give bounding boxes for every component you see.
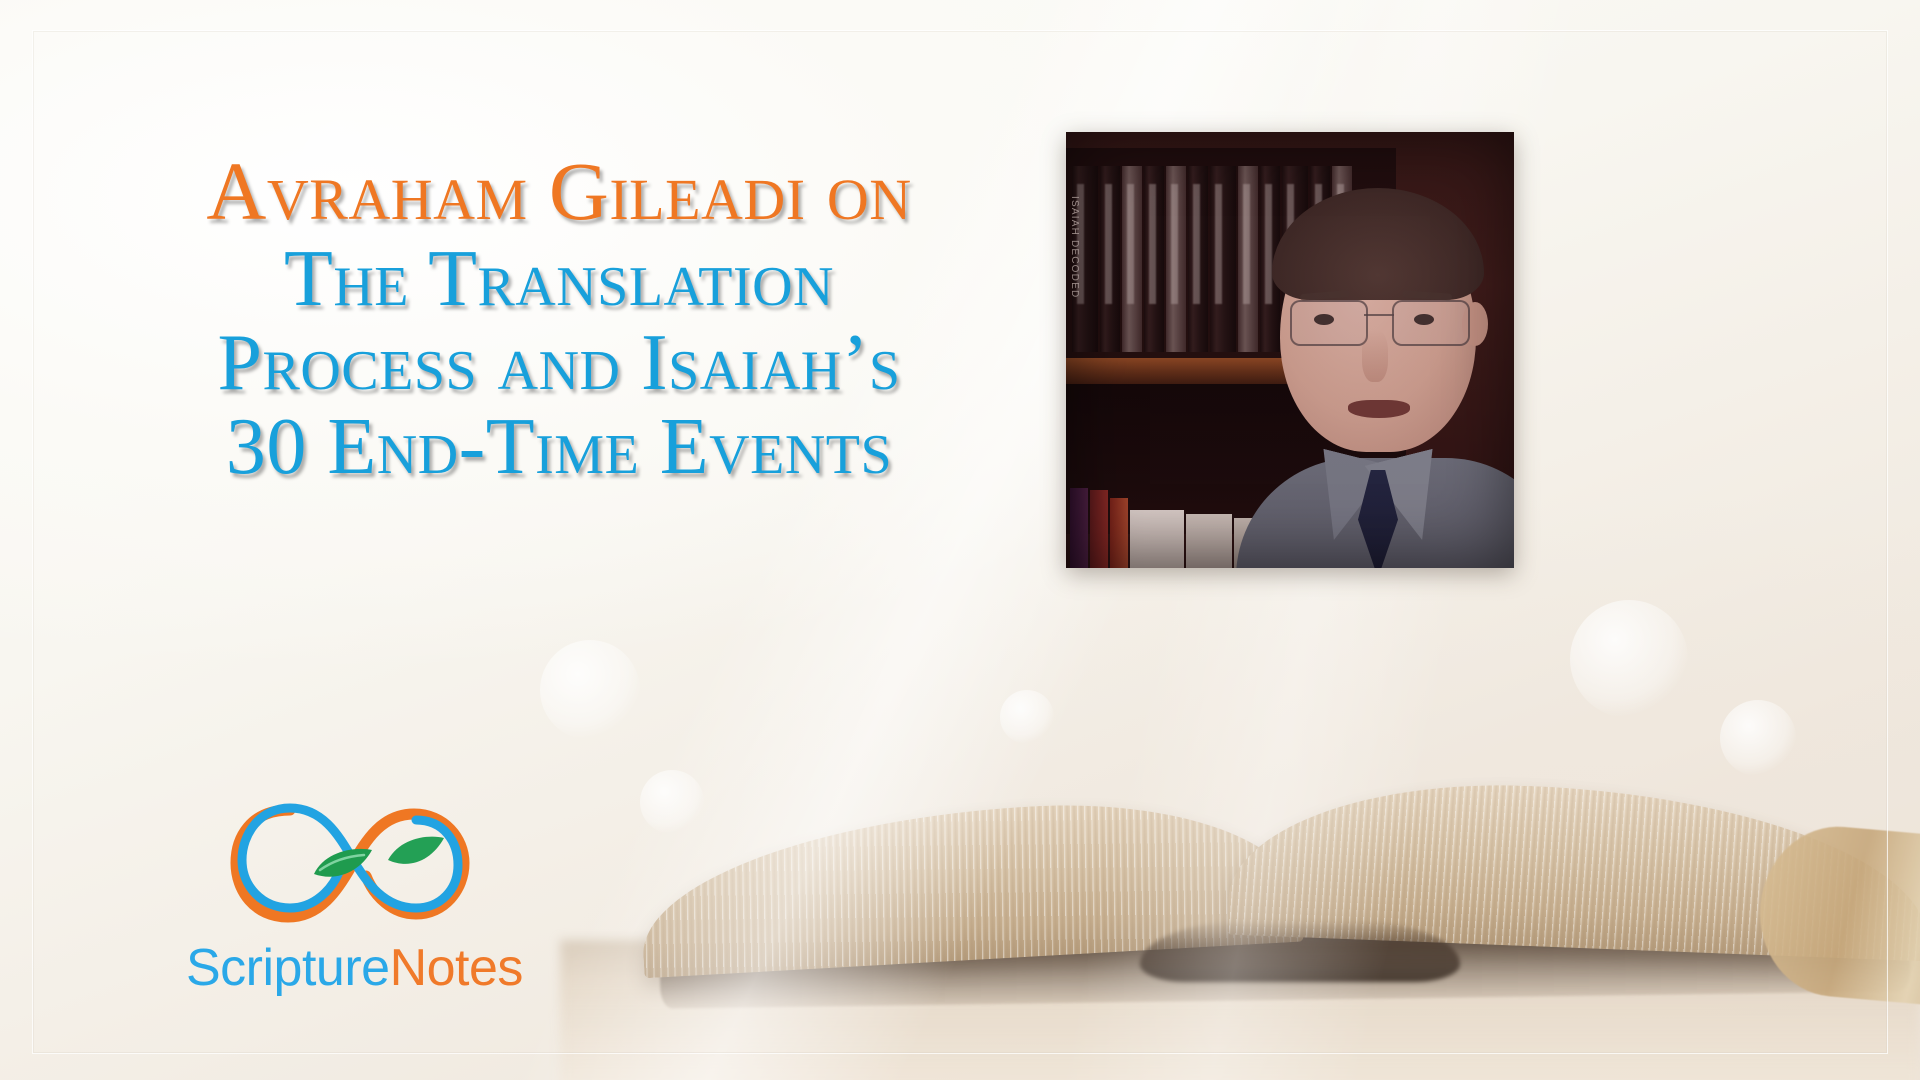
logo-word-notes: Notes — [390, 939, 523, 997]
book-spine — [1238, 166, 1258, 352]
logo-wordmark: ScriptureNotes — [186, 938, 516, 998]
logo-word-scripture: Scripture — [186, 939, 390, 997]
book-spine — [1166, 166, 1186, 352]
book-spine — [1100, 166, 1120, 352]
title-line-4: 30 End-Time Events — [64, 407, 1054, 487]
book-stack — [1186, 514, 1232, 568]
book-spine — [1122, 166, 1142, 352]
speaker-video-thumbnail[interactable]: ISAIAH DECODED — [1066, 132, 1514, 568]
title-line-2: The Translation — [64, 239, 1054, 319]
speaker-eye-right — [1414, 314, 1434, 325]
book-stack — [1130, 510, 1184, 568]
book-spine — [1144, 166, 1164, 352]
book-spine — [1188, 166, 1208, 352]
scripturenotes-logo[interactable]: ScriptureNotes — [186, 790, 516, 1025]
eyeglass-bridge — [1364, 314, 1394, 316]
presentation-slide: Avraham Gileadi on The Translation Proce… — [0, 0, 1920, 1080]
book-spine: ISAIAH DECODED — [1072, 166, 1098, 352]
book-spine — [1110, 498, 1128, 568]
speaker-nose — [1362, 330, 1388, 382]
book-spine — [1210, 166, 1236, 352]
speaker-mouth — [1348, 400, 1410, 418]
book-spine-label: ISAIAH DECODED — [1069, 196, 1080, 346]
title-line-3: Process and Isaiah’s — [64, 323, 1054, 403]
book-spine — [1090, 490, 1108, 568]
infinity-leaves-icon — [228, 790, 478, 940]
page-title: Avraham Gileadi on The Translation Proce… — [64, 150, 1054, 487]
speaker-eye-left — [1314, 314, 1334, 325]
title-line-1: Avraham Gileadi on — [64, 150, 1054, 233]
book-spine — [1070, 488, 1088, 568]
